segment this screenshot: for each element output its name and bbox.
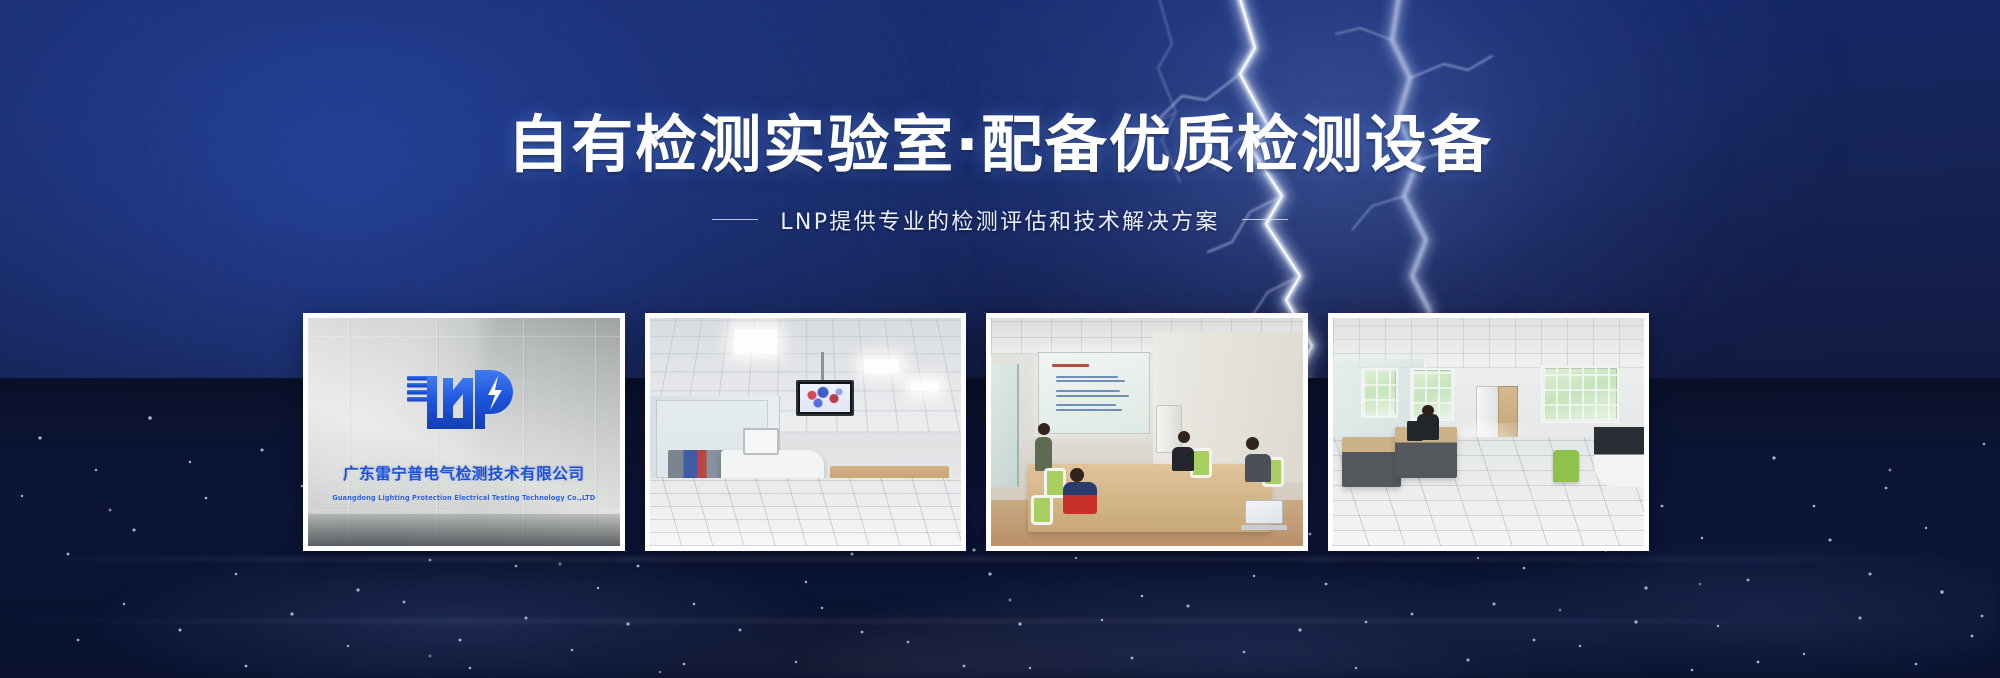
laptop (1241, 500, 1287, 530)
meeting-chair (1031, 495, 1053, 525)
office-window (1361, 368, 1398, 418)
wall-floor-shadow (308, 514, 620, 546)
air-conditioner (1156, 405, 1182, 453)
logo-wall-text-cn: 广东雷宁普电气检测技术有限公司 (343, 462, 585, 484)
person-seated-red (1063, 482, 1097, 514)
photo-meeting-room (991, 318, 1303, 546)
city-road-band-2 (0, 620, 2000, 622)
person-presenter (1035, 437, 1052, 471)
logo-wall-text-en: Guangdong Lighting Protection Electrical… (332, 494, 595, 502)
page-subtitle: LNP提供专业的检测评估和技术解决方案 (780, 204, 1220, 236)
rule-left-icon (712, 219, 758, 220)
person-seated-right (1245, 454, 1271, 482)
gallery-card-logo-wall[interactable]: 广东雷宁普电气检测技术有限公司 Guangdong Lighting Prote… (303, 313, 625, 551)
gallery-card-office[interactable] (1328, 313, 1650, 551)
rule-right-icon (1242, 219, 1288, 220)
ceiling-light (734, 329, 778, 354)
photo-logo-wall: 广东雷宁普电气检测技术有限公司 Guangdong Lighting Prote… (308, 318, 620, 546)
city-road-band-1 (0, 558, 2000, 560)
photo-gallery: 广东雷宁普电气检测技术有限公司 Guangdong Lighting Prote… (303, 313, 1649, 551)
lnp-logo-icon (403, 364, 525, 432)
photo-office (1333, 318, 1645, 546)
reception-counter (1594, 427, 1644, 486)
photo-laboratory (650, 318, 962, 546)
tv-mount (821, 352, 824, 382)
office-window (1541, 366, 1619, 423)
gallery-card-meeting-room[interactable] (986, 313, 1308, 551)
gallery-card-laboratory[interactable] (645, 313, 967, 551)
wall-monitor (796, 380, 854, 416)
person-at-desk (1417, 414, 1439, 440)
page-title: 自有检测实验室·配备优质检测设备 (0, 112, 2000, 178)
office-green-chair (1553, 450, 1579, 482)
console-monitor (743, 428, 779, 455)
meeting-chair (1190, 448, 1212, 478)
office-desk (1342, 437, 1401, 487)
person-seated-middle (1172, 447, 1194, 471)
hero-banner: 自有检测实验室·配备优质检测设备 LNP提供专业的检测评估和技术解决方案 (0, 0, 2000, 678)
subtitle-row: LNP提供专业的检测评估和技术解决方案 (0, 204, 2000, 236)
ceiling-light (911, 382, 939, 391)
lab-tile-floor (650, 478, 962, 546)
hero-text-block: 自有检测实验室·配备优质检测设备 LNP提供专业的检测评估和技术解决方案 (0, 112, 2000, 236)
wall-shine (308, 318, 491, 546)
projection-screen (1038, 352, 1150, 434)
meeting-glass-door (991, 364, 1019, 487)
ceiling-light (864, 359, 898, 373)
